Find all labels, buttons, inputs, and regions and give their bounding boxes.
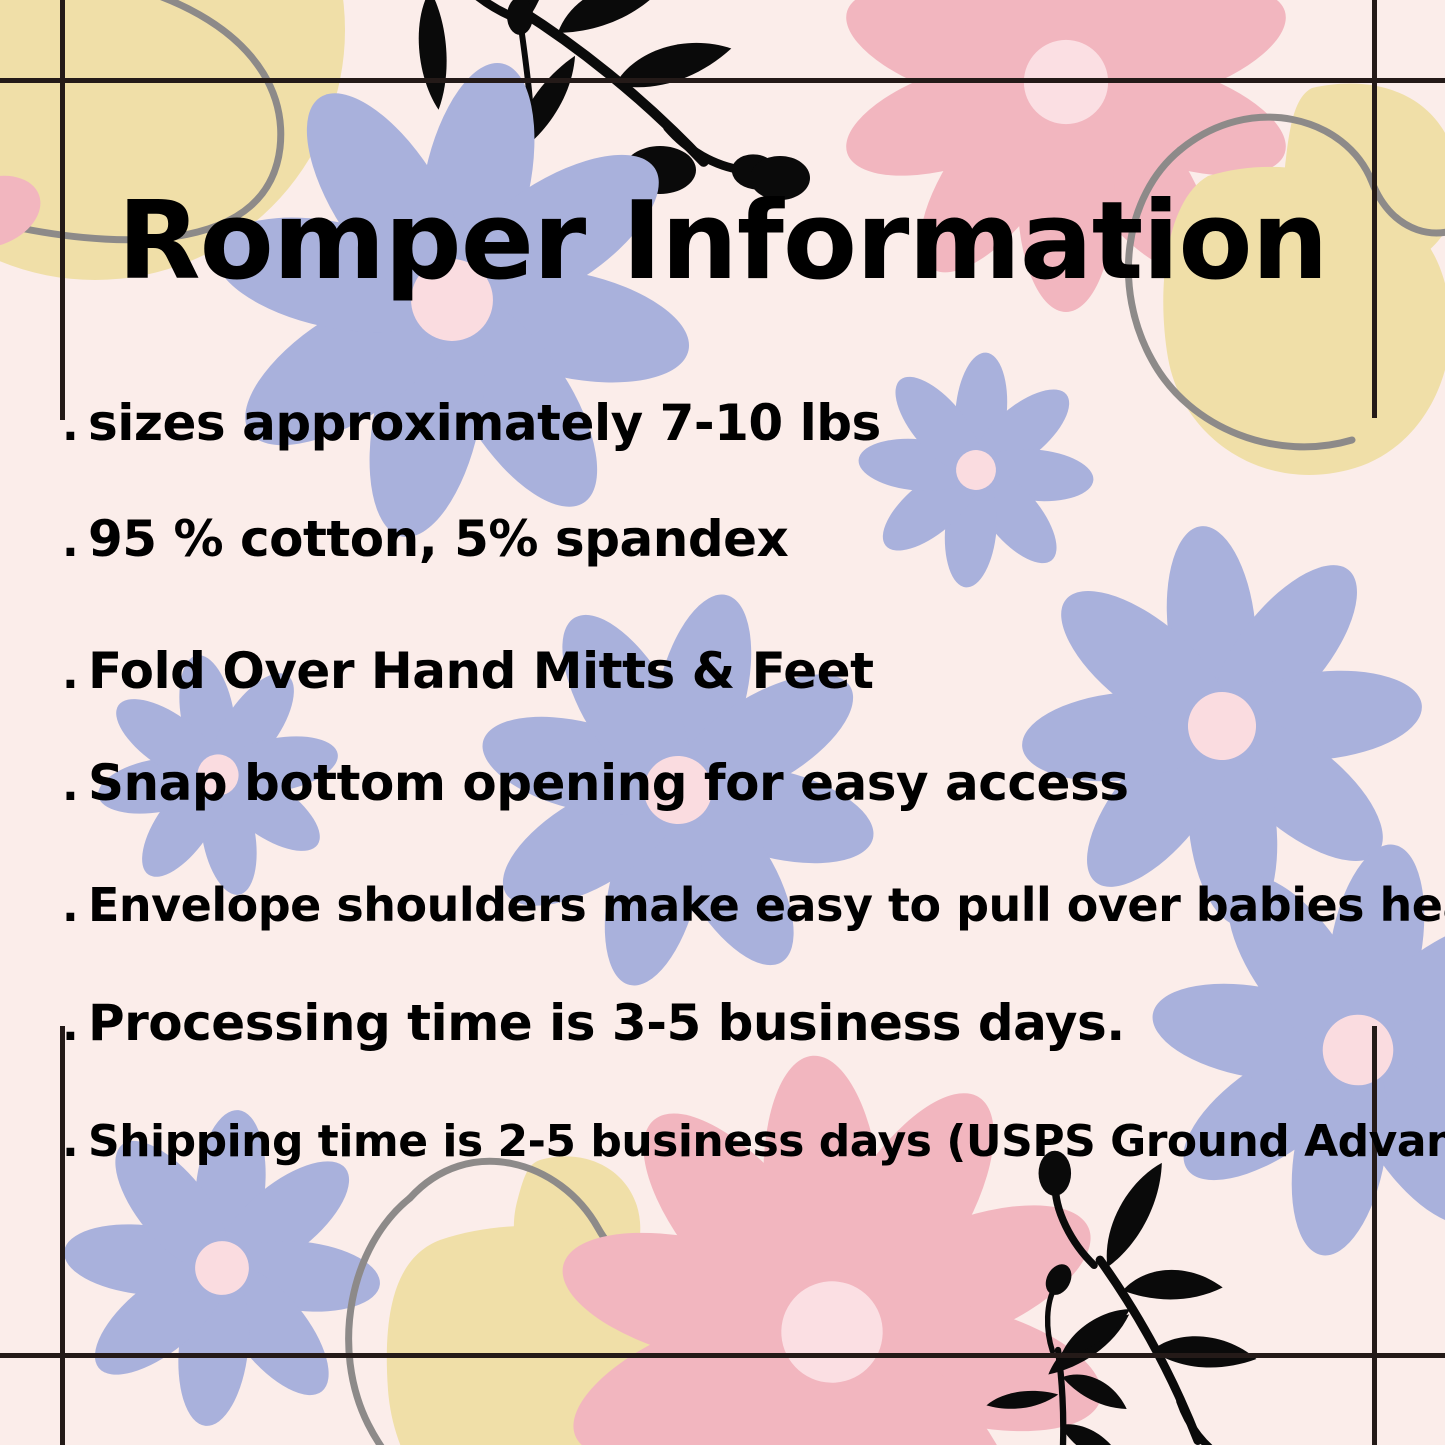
list-item-label: 95 % cotton, 5% spandex xyxy=(88,514,788,564)
bullet-marker: . xyxy=(62,1120,88,1164)
list-item: . Envelope shoulders make easy to pull o… xyxy=(62,882,1445,929)
poster-content: Romper Information . sizes approximately… xyxy=(0,0,1445,1445)
bullet-marker: . xyxy=(62,652,88,696)
list-item-label: Shipping time is 2-5 business days (USPS… xyxy=(88,1120,1445,1164)
list-item-label: Processing time is 3-5 business days. xyxy=(88,998,1125,1048)
list-item-label: Snap bottom opening for easy access xyxy=(88,758,1128,808)
romper-information-poster: Romper Information . sizes approximately… xyxy=(0,0,1445,1445)
list-item: . Fold Over Hand Mitts & Feet xyxy=(62,646,874,696)
list-item: . 95 % cotton, 5% spandex xyxy=(62,514,788,564)
list-item: . Snap bottom opening for easy access xyxy=(62,758,1128,808)
list-item-label: Fold Over Hand Mitts & Feet xyxy=(88,646,874,696)
list-item-label: Envelope shoulders make easy to pull ove… xyxy=(88,882,1445,928)
bullet-marker: . xyxy=(62,1004,88,1048)
bullet-marker: . xyxy=(62,404,88,448)
bullet-marker: . xyxy=(62,764,88,808)
bullet-marker: . xyxy=(62,520,88,564)
list-item: . sizes approximately 7-10 lbs xyxy=(62,398,881,448)
list-item-label: sizes approximately 7-10 lbs xyxy=(88,398,881,448)
page-title: Romper Information xyxy=(0,188,1445,296)
list-item: . Processing time is 3-5 business days. xyxy=(62,998,1125,1048)
bullet-marker: . xyxy=(62,885,88,929)
list-item: . Shipping time is 2-5 business days (US… xyxy=(62,1120,1445,1164)
